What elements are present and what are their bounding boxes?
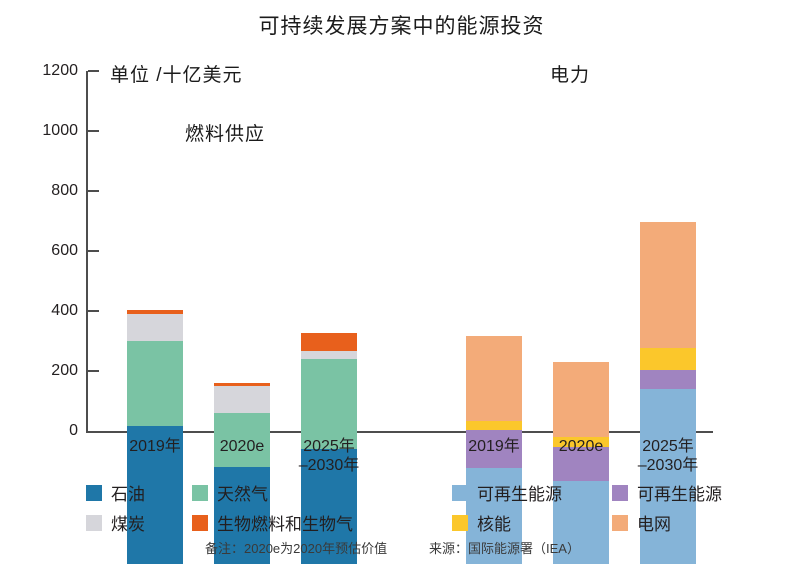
legend-swatch-renewables (452, 485, 468, 501)
legend-item-gas[interactable]: 天然气 (192, 480, 268, 505)
y-tick-200 (88, 370, 99, 372)
legend-item-coal[interactable]: 煤炭 (86, 510, 145, 535)
legend-label-oil: 石油 (111, 480, 145, 505)
x-label-text: 2020e (559, 438, 604, 455)
legend-item-renewables-2[interactable]: 可再生能源 (612, 480, 722, 505)
legend-swatch-coal (86, 515, 102, 531)
bar-fuel-supply-2025-2030[interactable] (301, 133, 357, 564)
legend-swatch-grid (612, 515, 628, 531)
y-tick-label-600: 600 (28, 242, 78, 260)
footnote-source: 来源：国际能源署（IEA） (429, 538, 580, 557)
legend-item-oil[interactable]: 石油 (86, 480, 145, 505)
legend-label-gas: 天然气 (217, 480, 268, 505)
x-label-text: 2019年 (129, 438, 181, 455)
x-label-text: 2019年 (468, 438, 520, 455)
legend-item-renewables[interactable]: 可再生能源 (452, 480, 562, 505)
bar-segment-天然气 (301, 359, 357, 449)
bar-segment-核能 (466, 421, 522, 430)
bar-segment-电网 (466, 336, 522, 421)
bar-segment-核能 (640, 348, 696, 370)
y-tick-label-800: 800 (28, 182, 78, 200)
bar-segment-可再生能源 (640, 370, 696, 389)
y-tick-600 (88, 250, 99, 252)
y-tick-1200 (88, 70, 99, 72)
x-label-text-line1: 2025年 (303, 438, 355, 455)
legend-label-renewables: 可再生能源 (477, 480, 562, 505)
legend-label-nuclear: 核能 (477, 510, 511, 535)
chart-container: 可持续发展方案中的能源投资 1200 1000 800 600 400 200 … (0, 0, 803, 564)
bar-segment-电网 (553, 362, 609, 437)
x-label-text-line1: 2025年 (642, 438, 694, 455)
legend-item-biofuel[interactable]: 生物燃料和生物气 (192, 510, 353, 535)
legend-item-nuclear[interactable]: 核能 (452, 510, 511, 535)
x-label-text-line2: –2030年 (299, 457, 360, 474)
legend-swatch-nuclear (452, 515, 468, 531)
legend-item-grid[interactable]: 电网 (612, 510, 671, 535)
y-tick-label-400: 400 (28, 302, 78, 320)
legend-swatch-gas (192, 485, 208, 501)
bar-segment-煤炭 (301, 351, 357, 359)
y-tick-label-1200: 1200 (28, 62, 78, 80)
legend-swatch-biofuel (192, 515, 208, 531)
y-tick-800 (88, 190, 99, 192)
bar-segment-电网 (640, 222, 696, 348)
y-axis-line (86, 71, 88, 433)
legend-label-biofuel: 生物燃料和生物气 (217, 510, 353, 535)
bar-segment-煤炭 (214, 386, 270, 413)
y-tick-label-1000: 1000 (28, 122, 78, 140)
footnote-note: 备注：2020e为2020年预估价值 (205, 538, 387, 557)
legend-label-grid: 电网 (637, 510, 671, 535)
unit-label: 单位 /十亿美元 (110, 60, 243, 87)
x-label-text-line2: –2030年 (638, 457, 699, 474)
legend-label-renewables-2: 可再生能源 (637, 480, 722, 505)
bar-segment-生物燃料和生物气 (301, 333, 357, 351)
bar-segment-生物燃料和生物气 (127, 310, 183, 314)
x-label-power-2025-2030: 2025年 –2030年 (613, 437, 723, 475)
x-label-text: 2020e (220, 438, 265, 455)
bar-segment-天然气 (127, 341, 183, 427)
bar-segment-可再生能源 (640, 389, 696, 564)
legend-swatch-renewables-2 (612, 485, 628, 501)
legend-swatch-oil (86, 485, 102, 501)
y-tick-1000 (88, 130, 99, 132)
bar-segment-煤炭 (127, 314, 183, 341)
bar-segment-生物燃料和生物气 (214, 383, 270, 386)
x-label-fuel-2025-2030: 2025年 –2030年 (274, 437, 384, 475)
y-tick-label-200: 200 (28, 362, 78, 380)
y-tick-400 (88, 310, 99, 312)
group-label-power: 电力 (550, 60, 590, 87)
y-tick-label-0: 0 (28, 422, 78, 440)
legend-label-coal: 煤炭 (111, 510, 145, 535)
